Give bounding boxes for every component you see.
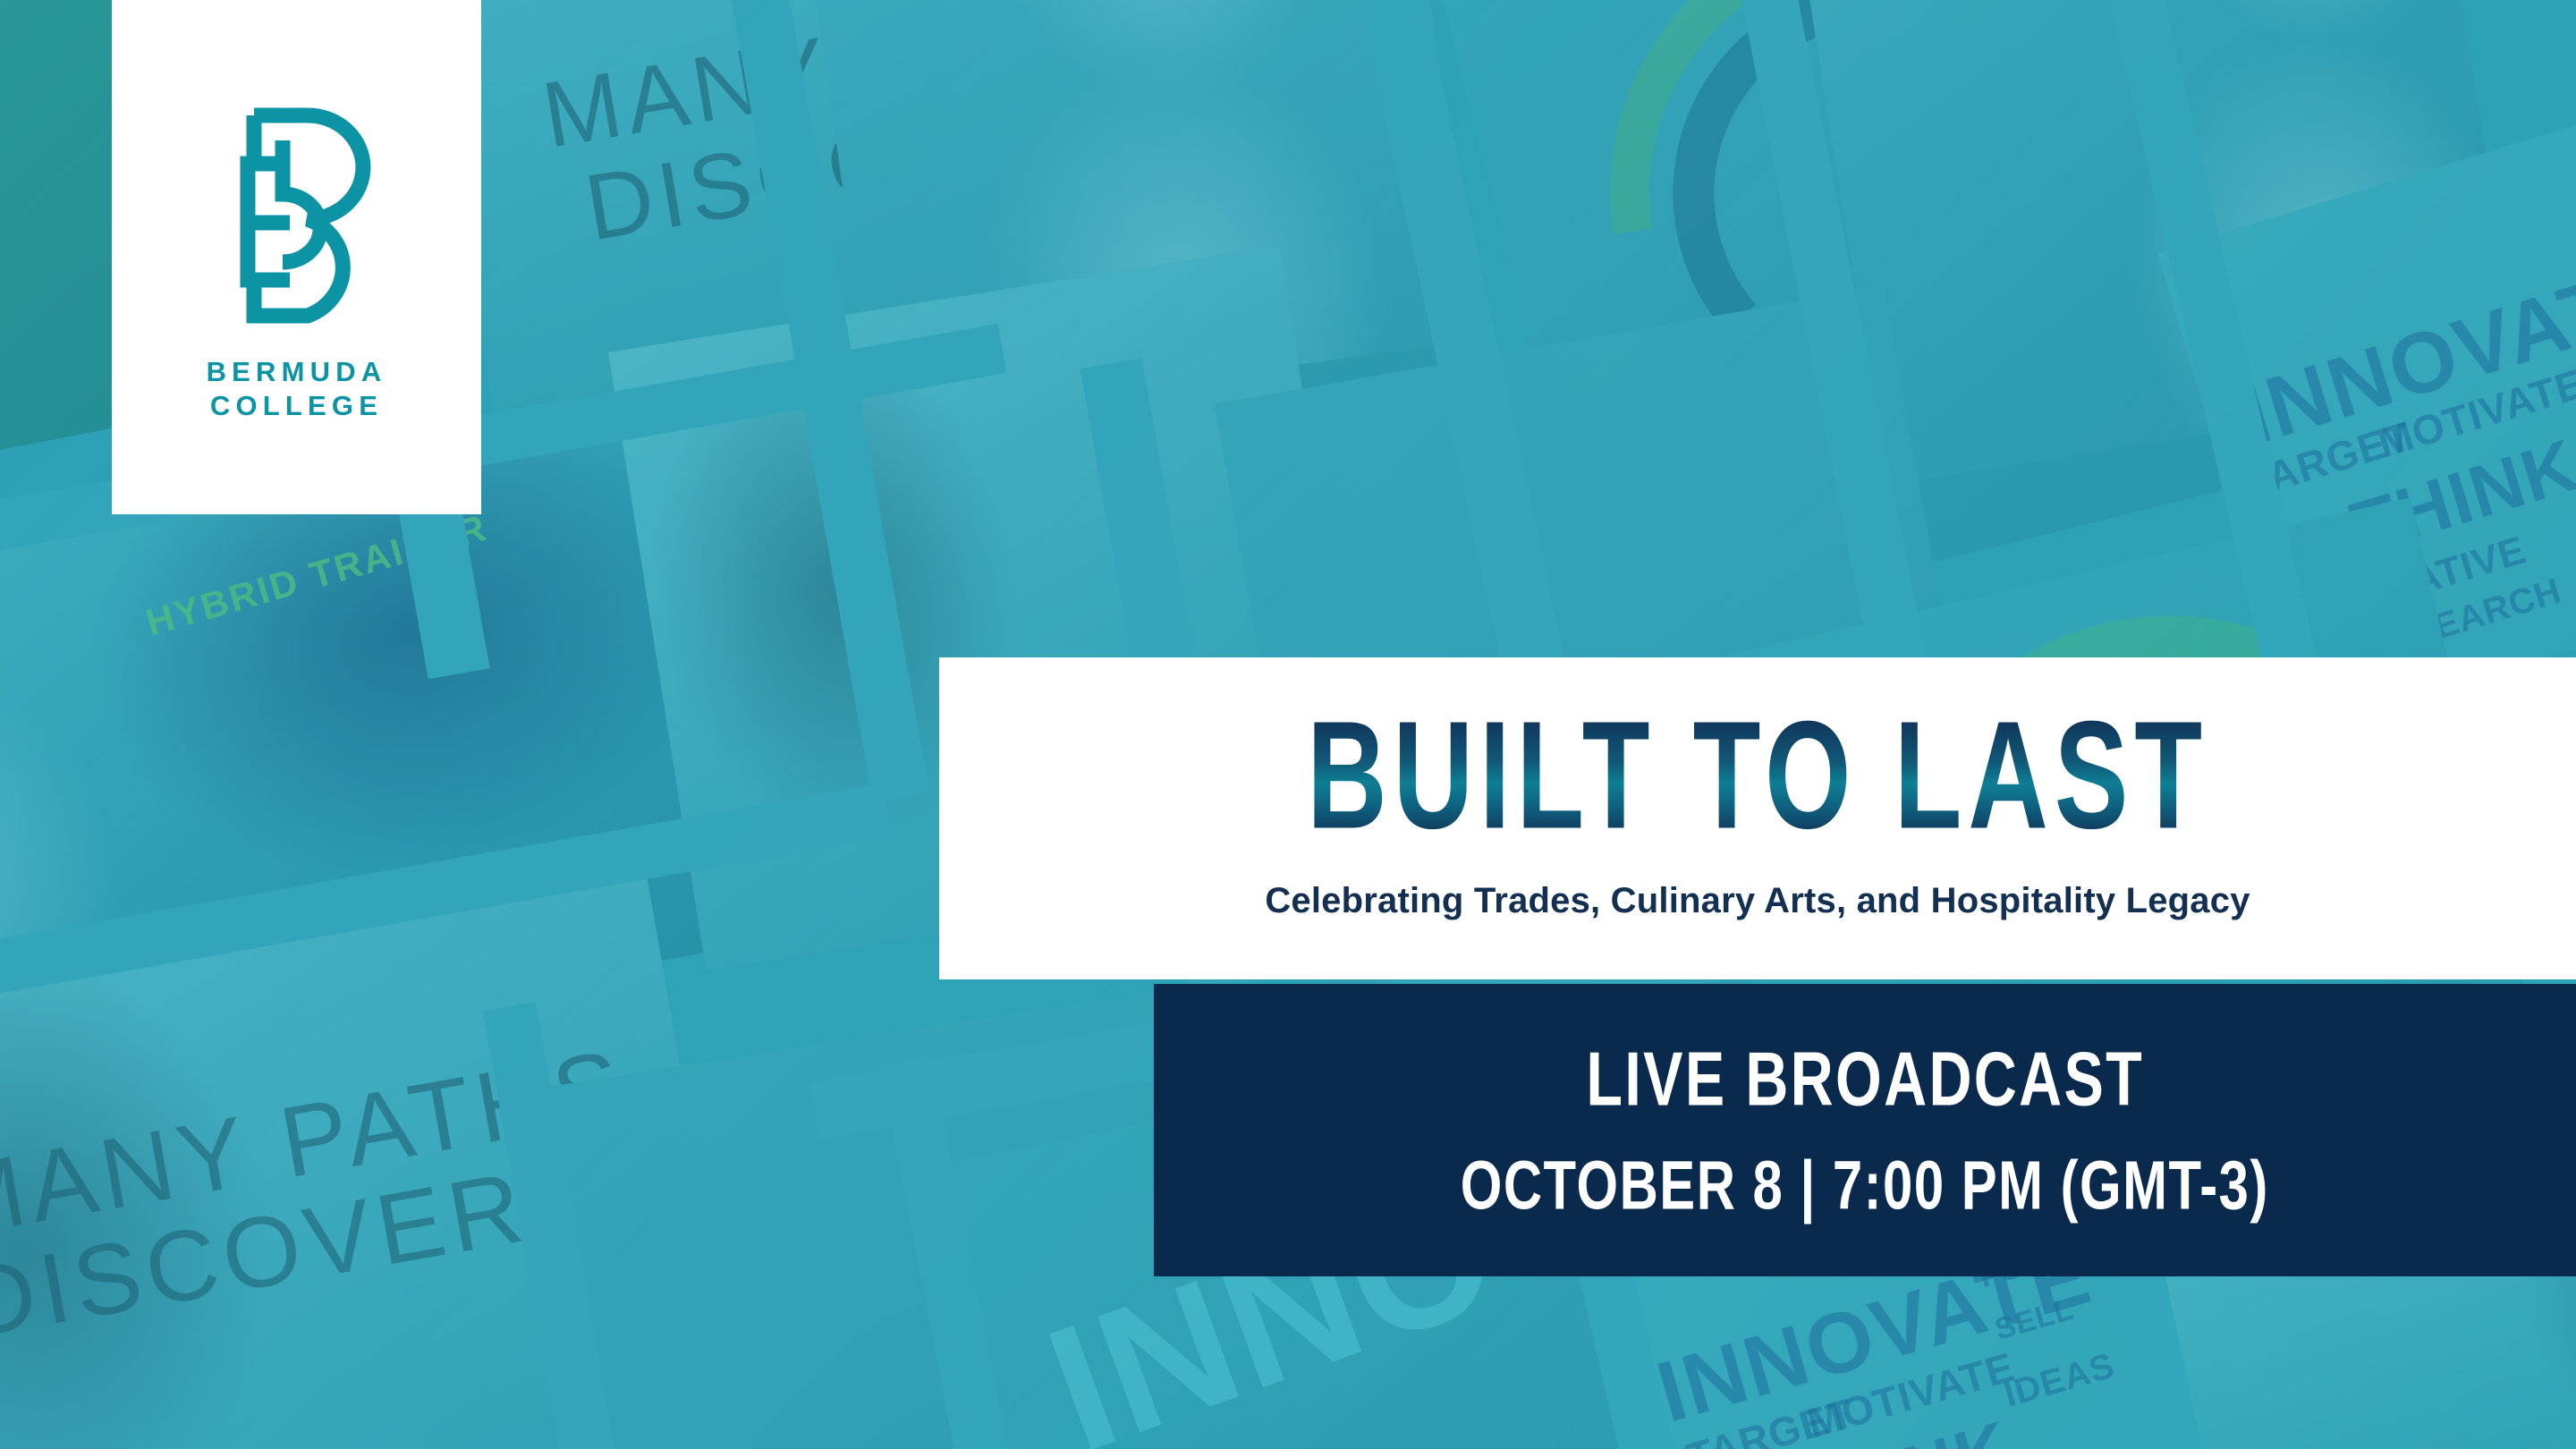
broadcast-banner: LIVE BROADCAST OCTOBER 8 | 7:00 PM (GMT-… xyxy=(1154,984,2576,1276)
broadcast-datetime: OCTOBER 8 | 7:00 PM (GMT-3) xyxy=(1461,1147,2269,1225)
poster: MANY PATHS DISCOVER YOURS INNO INNOVATE … xyxy=(0,0,2576,1449)
logo-wordmark-line1: BERMUDA xyxy=(207,355,387,389)
broadcast-label: LIVE BROADCAST xyxy=(1586,1035,2144,1123)
logo-card: BERMUDA COLLEGE xyxy=(112,0,481,514)
logo-wordmark: BERMUDA COLLEGE xyxy=(207,355,387,423)
event-subheadline: Celebrating Trades, Culinary Arts, and H… xyxy=(1265,881,2250,921)
title-card: BUILT TO LAST Celebrating Trades, Culina… xyxy=(939,657,2576,979)
bermuda-college-b-monogram-icon xyxy=(208,101,386,325)
logo-wordmark-line2: COLLEGE xyxy=(207,389,387,423)
event-headline: BUILT TO LAST xyxy=(1307,699,2208,852)
